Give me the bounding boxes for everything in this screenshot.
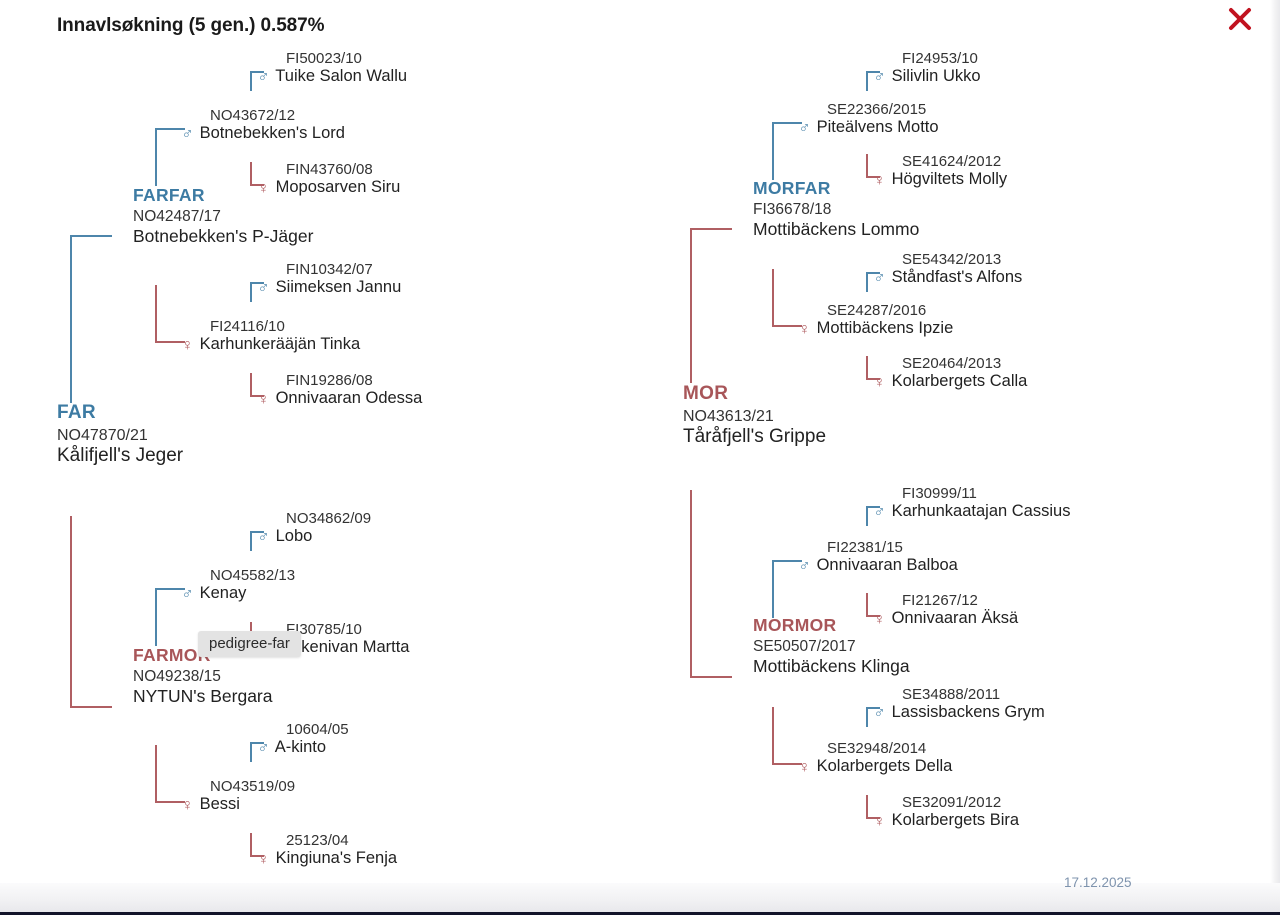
ancestor-reg: FI30999/11 [872, 485, 1070, 502]
page-right-edge [1270, 0, 1280, 884]
ancestor-reg: FI24953/10 [872, 50, 981, 67]
ancestor-name: Kenay [200, 584, 247, 602]
ancestor-node-farfar[interactable]: FARFAR NO42487/17 Botnebekken's P-Jäger [133, 185, 313, 247]
ancestor-node-morfar[interactable]: MORFAR FI36678/18 Mottibäckens Lommo [753, 178, 919, 240]
ancestor-name-row: ♂ Ståndfast's Alfons [872, 268, 1022, 288]
connector-bracket [866, 71, 880, 91]
ancestor-reg: NO47870/21 [57, 427, 183, 445]
ancestor-reg: 10604/05 [256, 721, 349, 738]
ancestor-name-row: ♂ Botnebekken's Lord [180, 124, 345, 144]
ancestor-reg: FI21267/12 [872, 592, 1018, 609]
connector-bracket [866, 356, 880, 380]
role-label-far: FAR [57, 402, 183, 425]
ancestor-name: A-kinto [275, 738, 326, 756]
ancestor-reg: FIN19286/08 [256, 372, 422, 389]
ancestor-reg: NO43519/09 [180, 778, 295, 795]
ancestor-name-row: ♀ Kingiuna's Fenja [256, 849, 397, 869]
ancestor-name: Onnivaaran Balboa [817, 556, 958, 574]
ancestor-reg: NO43613/21 [683, 408, 826, 426]
ancestor-name-row: ♀ Mottibäckens Ipzie [797, 319, 953, 339]
ancestor-reg: NO34862/09 [256, 510, 371, 527]
ancestor-node[interactable]: SE20464/2013 ♀ Kolarbergets Calla [872, 355, 1027, 392]
ancestor-reg: FIN43760/08 [256, 161, 400, 178]
connector-bracket [772, 122, 802, 180]
ancestor-name-row: ♂ Karhunkaatajan Cassius [872, 502, 1070, 522]
connector-bracket [250, 162, 264, 186]
connector-bracket [250, 373, 264, 397]
ancestor-reg: 25123/04 [256, 832, 397, 849]
ancestor-reg: SE32948/2014 [797, 740, 952, 757]
ancestor-node[interactable]: SE24287/2016 ♀ Mottibäckens Ipzie [797, 302, 953, 339]
ancestor-name-row: ♀ Onnivaaran Odessa [256, 389, 422, 409]
connector-bracket [866, 707, 880, 727]
connector-bracket [155, 128, 185, 186]
ancestor-name: Botnebekken's P-Jäger [133, 226, 313, 247]
ancestor-name: Kolarbergets Calla [892, 372, 1028, 390]
connector-bracket [772, 560, 802, 618]
ancestor-node[interactable]: FIN10342/07 ♂ Siimeksen Jannu [256, 261, 401, 298]
ancestor-name-row: ♀ Kolarbergets Della [797, 757, 952, 777]
ancestor-name: Lassisbackens Grym [892, 703, 1045, 721]
close-icon[interactable] [1224, 3, 1256, 35]
role-label-morfar: MORFAR [753, 178, 919, 199]
ancestor-name: Lobo [276, 527, 313, 545]
connector-bracket [866, 272, 880, 292]
ancestor-name: Mottibäckens Ipzie [817, 319, 954, 337]
ancestor-node[interactable]: FI22381/15 ♂ Onnivaaran Balboa [797, 539, 958, 576]
connector-bracket [690, 228, 732, 383]
ancestor-reg: FI36678/18 [753, 201, 919, 219]
ancestor-name: Tåråfjell's Grippe [683, 426, 826, 449]
connector-bracket [250, 282, 264, 302]
ancestor-node[interactable]: SE54342/2013 ♂ Ståndfast's Alfons [872, 251, 1022, 288]
ancestor-reg: NO42487/17 [133, 208, 313, 226]
ancestor-name-row: ♂ A-kinto [256, 738, 349, 758]
ancestor-reg: FI50023/10 [256, 50, 407, 67]
ancestor-reg: FI24116/10 [180, 318, 360, 335]
ancestor-name: Piteälvens Motto [817, 118, 939, 136]
ancestor-reg: SE54342/2013 [872, 251, 1022, 268]
ancestor-name: Bessi [200, 795, 240, 813]
ancestor-reg: SE50507/2017 [753, 638, 910, 656]
ancestor-node[interactable]: 10604/05 ♂ A-kinto [256, 721, 349, 758]
connector-bracket [690, 490, 732, 678]
ancestor-node-far[interactable]: FAR NO47870/21 Kålifjell's Jeger [57, 402, 183, 468]
ancestor-node[interactable]: 25123/04 ♀ Kingiuna's Fenja [256, 832, 397, 869]
ancestor-reg: SE22366/2015 [797, 101, 939, 118]
date-stamp: 17.12.2025 [1064, 875, 1132, 890]
ancestor-name-row: ♂ Silivlin Ukko [872, 67, 981, 87]
ancestor-name-row: ♂ Piteälvens Motto [797, 118, 939, 138]
ancestor-reg: NO49238/15 [133, 668, 273, 686]
ancestor-name-row: ♂ Lobo [256, 527, 371, 547]
ancestor-name: Silivlin Ukko [892, 67, 981, 85]
ancestor-name: NYTUN's Bergara [133, 686, 273, 707]
ancestor-node[interactable]: SE32091/2012 ♀ Kolarbergets Bira [872, 794, 1019, 831]
ancestor-reg: SE41624/2012 [872, 153, 1007, 170]
ancestor-name: Kingiuna's Fenja [276, 849, 397, 867]
ancestor-name-row: ♀ Karhunkerääjän Tinka [180, 335, 360, 355]
ancestor-node[interactable]: FI24953/10 ♂ Silivlin Ukko [872, 50, 981, 87]
ancestor-node[interactable]: NO45582/13 ♂ Kenay [180, 567, 295, 604]
role-label-farfar: FARFAR [133, 185, 313, 206]
ancestor-name-row: ♂ Onnivaaran Balboa [797, 556, 958, 576]
ancestor-name: Mottibäckens Lommo [753, 219, 919, 240]
ancestor-reg: SE24287/2016 [797, 302, 953, 319]
ancestor-reg: NO45582/13 [180, 567, 295, 584]
ancestor-name-row: ♀ Bessi [180, 795, 295, 815]
ancestor-name-row: ♂ Tuike Salon Wallu [256, 67, 407, 87]
ancestor-name: Tuike Salon Wallu [275, 67, 407, 85]
ancestor-name: Kolarbergets Della [817, 757, 953, 775]
connector-bracket [772, 269, 802, 327]
connector-bracket [155, 745, 185, 803]
ancestor-name: Onnivaaran Äksä [892, 609, 1019, 627]
ancestor-name-row: ♂ Kenay [180, 584, 295, 604]
ancestor-name-row: ♂ Lassisbackens Grym [872, 703, 1045, 723]
ancestor-reg: SE32091/2012 [872, 794, 1019, 811]
pedigree-page: Innavlsøkning (5 gen.) 0.587% FI50023/10… [0, 0, 1280, 915]
connector-bracket [866, 154, 880, 178]
ancestor-reg: FI22381/15 [797, 539, 958, 556]
ancestor-node-mormor[interactable]: MORMOR SE50507/2017 Mottibäckens Klinga [753, 615, 910, 677]
connector-bracket [866, 593, 880, 617]
ancestor-node[interactable]: SE32948/2014 ♀ Kolarbergets Della [797, 740, 952, 777]
ancestor-name: Ståndfast's Alfons [892, 268, 1023, 286]
ancestor-node[interactable]: NO34862/09 ♂ Lobo [256, 510, 371, 547]
ancestor-reg: SE20464/2013 [872, 355, 1027, 372]
connector-bracket [155, 285, 185, 343]
connector-bracket [866, 795, 880, 819]
ancestor-node[interactable]: FIN19286/08 ♀ Onnivaaran Odessa [256, 372, 422, 409]
ancestor-name: Karhunkerääjän Tinka [200, 335, 361, 353]
role-label-mor: MOR [683, 383, 826, 406]
connector-bracket [70, 235, 112, 403]
ancestor-reg: SE34888/2011 [872, 686, 1045, 703]
ancestor-name: Kolarbergets Bira [892, 811, 1019, 829]
ancestor-node[interactable]: SE34888/2011 ♂ Lassisbackens Grym [872, 686, 1045, 723]
connector-bracket [866, 506, 880, 526]
page-title: Innavlsøkning (5 gen.) 0.587% [57, 15, 324, 37]
tooltip: pedigree-far [198, 631, 301, 657]
connector-bracket [250, 742, 264, 762]
ancestor-node[interactable]: FI50023/10 ♂ Tuike Salon Wallu [256, 50, 407, 87]
ancestor-name: Karhunkaatajan Cassius [892, 502, 1071, 520]
ancestor-node[interactable]: FI24116/10 ♀ Karhunkerääjän Tinka [180, 318, 360, 355]
ancestor-node[interactable]: FI30999/11 ♂ Karhunkaatajan Cassius [872, 485, 1070, 522]
ancestor-name-row: ♀ Kolarbergets Bira [872, 811, 1019, 831]
connector-bracket [772, 707, 802, 765]
ancestor-name: Botnebekken's Lord [200, 124, 345, 142]
ancestor-name: Mottibäckens Klinga [753, 656, 910, 677]
connector-bracket [250, 531, 264, 551]
ancestor-name: Siimeksen Jannu [276, 278, 402, 296]
ancestor-node[interactable]: NO43672/12 ♂ Botnebekken's Lord [180, 107, 345, 144]
connector-bracket [250, 71, 264, 91]
connector-bracket [155, 588, 185, 646]
ancestor-name-row: ♂ Siimeksen Jannu [256, 278, 401, 298]
ancestor-reg: FIN10342/07 [256, 261, 401, 278]
connector-bracket [70, 516, 112, 708]
ancestor-node[interactable]: NO43519/09 ♀ Bessi [180, 778, 295, 815]
ancestor-name: Onnivaaran Odessa [276, 389, 423, 407]
ancestor-node[interactable]: SE22366/2015 ♂ Piteälvens Motto [797, 101, 939, 138]
ancestor-reg: NO43672/12 [180, 107, 345, 124]
ancestor-name-row: ♀ Kolarbergets Calla [872, 372, 1027, 392]
ancestor-name: Kålifjell's Jeger [57, 445, 183, 468]
ancestor-node-mor[interactable]: MOR NO43613/21 Tåråfjell's Grippe [683, 383, 826, 449]
connector-bracket [250, 833, 264, 857]
role-label-mormor: MORMOR [753, 615, 910, 636]
